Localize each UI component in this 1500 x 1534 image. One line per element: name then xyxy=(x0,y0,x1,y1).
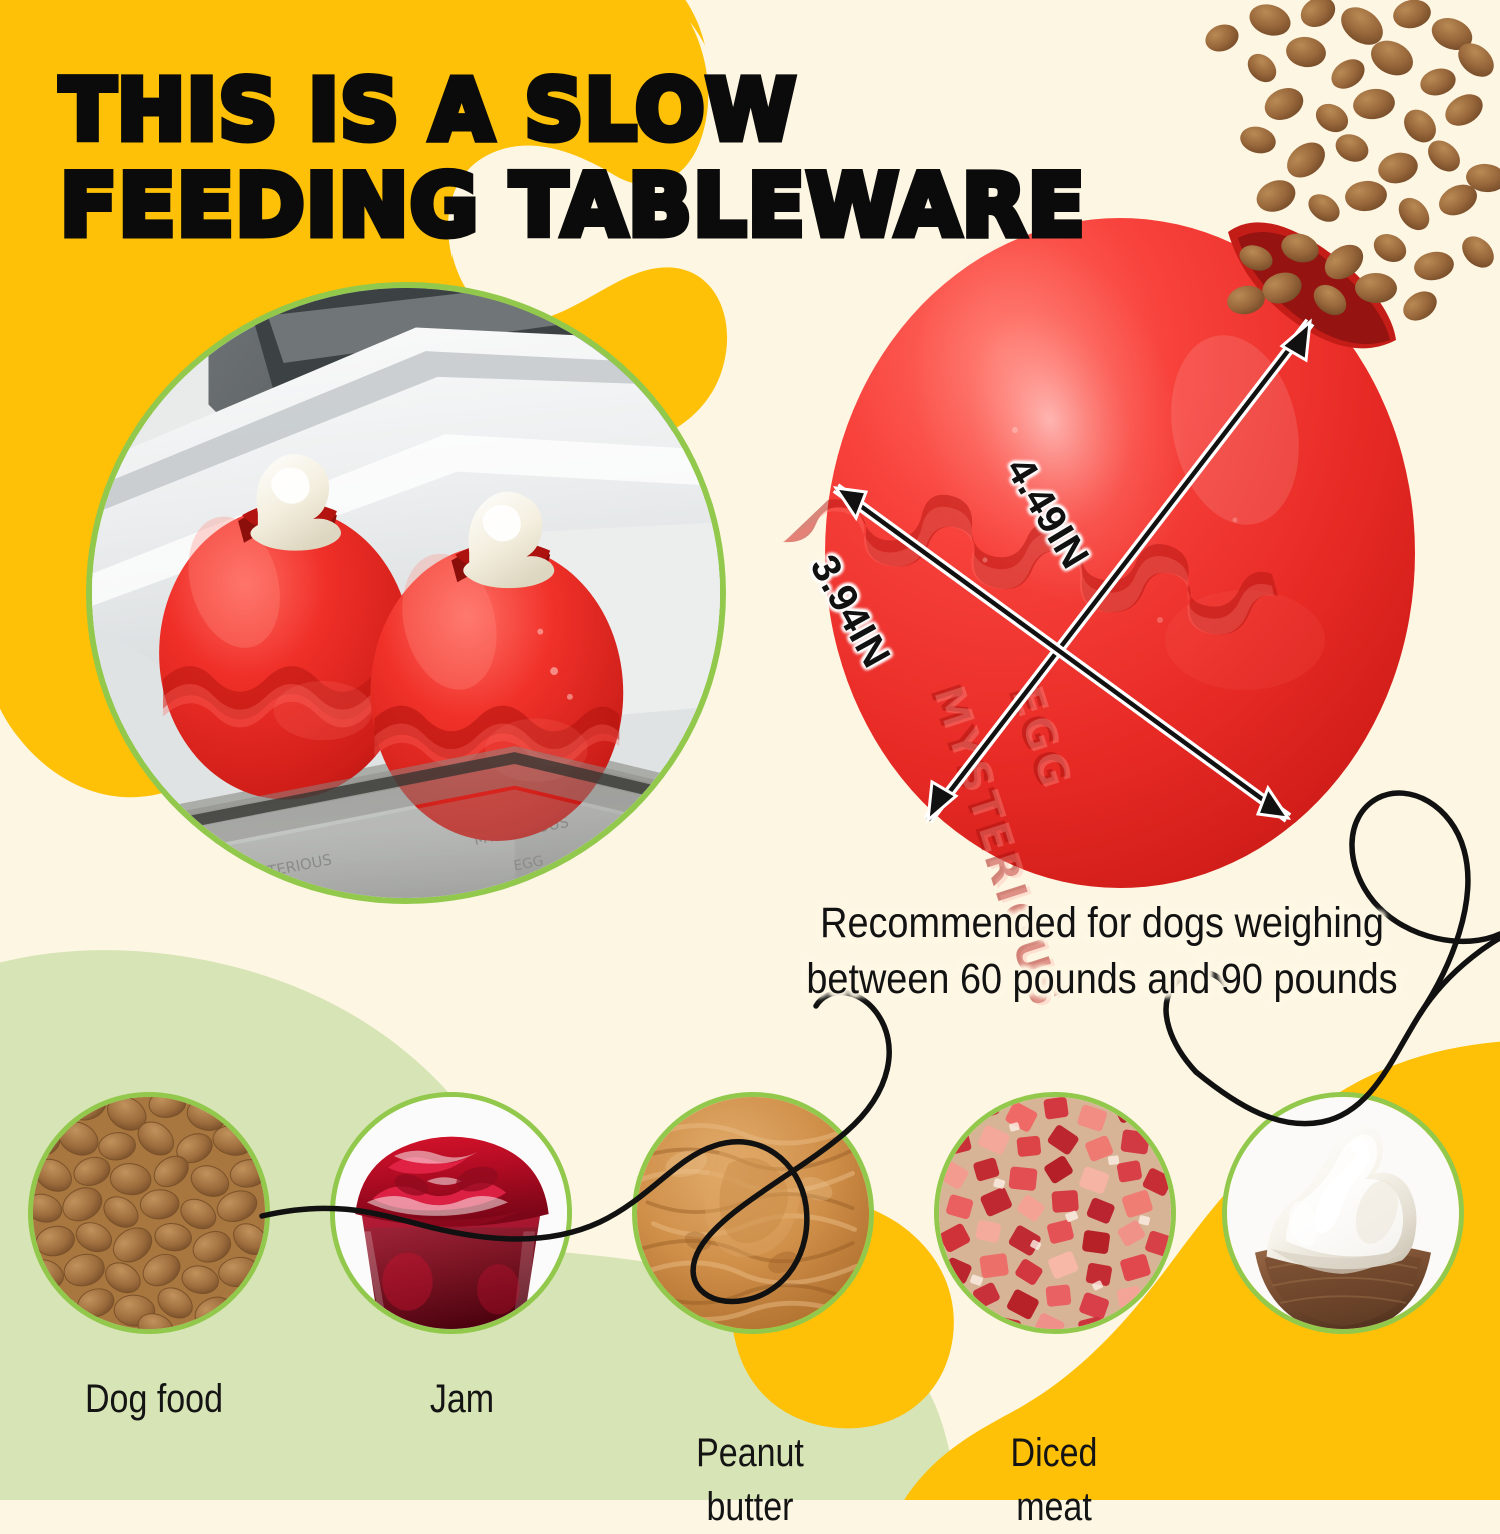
label-jam-text: Jam xyxy=(430,1377,494,1421)
label-dog-food: Dog food xyxy=(44,1372,265,1426)
recommendation-line-2: between 60 pounds and 90 pounds xyxy=(806,955,1397,1003)
label-dog-food-text: Dog food xyxy=(85,1377,223,1421)
weight-recommendation-text: Recommended for dogs weighing between 60… xyxy=(785,895,1419,1007)
label-diced-meat: Diced meat xyxy=(944,1372,1165,1534)
label-jam: Jam xyxy=(352,1372,573,1426)
curvy-connector-line-icon xyxy=(0,0,1500,1500)
infographic-canvas: THIS IS A SLOW FEEDING TABLEWARE xyxy=(0,0,1500,1500)
label-peanut-butter-text: Peanut butter xyxy=(696,1431,804,1529)
recommendation-line-1: Recommended for dogs weighing xyxy=(820,899,1384,947)
label-peanut-butter: Peanut butter xyxy=(640,1372,861,1534)
label-diced-meat-text: Diced meat xyxy=(1011,1431,1098,1529)
